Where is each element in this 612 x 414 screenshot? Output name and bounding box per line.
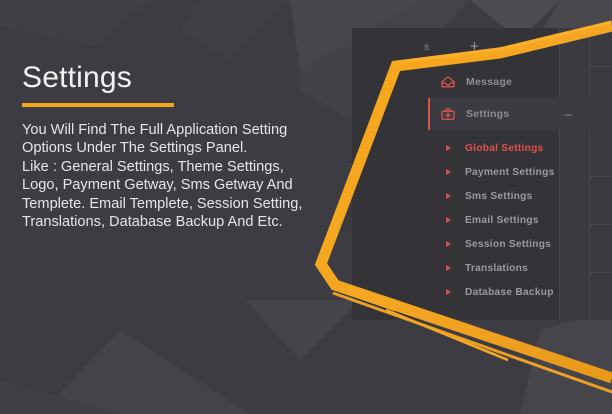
promo-line: Like : General Settings, Theme Settings,	[22, 158, 342, 177]
title-underline	[22, 103, 174, 107]
sidebar-item-label: Message	[466, 76, 512, 88]
collapse-toggle-icon[interactable]: –	[565, 108, 572, 121]
caret-right-icon	[446, 265, 456, 271]
submenu-item-label: Database Backup	[465, 287, 554, 298]
promo-line: Logo, Payment Getway, Sms Getway And	[22, 176, 342, 195]
sidebar-item-message[interactable]: Message	[428, 66, 612, 98]
briefcase-icon	[440, 106, 456, 122]
page-title: Settings	[22, 62, 342, 94]
submenu-item-label: Global Settings	[465, 143, 543, 154]
submenu-item-email-settings[interactable]: Email Settings	[428, 208, 612, 232]
submenu-item-database-backup[interactable]: Database Backup	[428, 280, 612, 304]
promo-line: Options Under The Settings Panel.	[22, 139, 342, 158]
caret-right-icon	[446, 289, 456, 295]
promo-description: You Will Find The Full Application Setti…	[22, 121, 342, 233]
submenu-item-session-settings[interactable]: Session Settings	[428, 232, 612, 256]
caret-right-icon	[446, 217, 456, 223]
promo-line: Translations, Database Backup And Etc.	[22, 213, 342, 232]
app-screenshot: s + Message Settings –	[352, 0, 612, 414]
promo-line: Templete. Email Templete, Session Settin…	[22, 195, 342, 214]
submenu-item-sms-settings[interactable]: Sms Settings	[428, 184, 612, 208]
submenu-item-label: Email Settings	[465, 215, 539, 226]
app-topbar: s +	[424, 36, 612, 62]
settings-submenu: Global Settings Payment Settings Sms Set…	[428, 136, 612, 304]
submenu-item-translations[interactable]: Translations	[428, 256, 612, 280]
submenu-item-label: Sms Settings	[465, 191, 533, 202]
submenu-item-global-settings[interactable]: Global Settings	[428, 136, 612, 160]
submenu-item-label: Session Settings	[465, 239, 551, 250]
caret-right-icon	[446, 241, 456, 247]
submenu-item-payment-settings[interactable]: Payment Settings	[428, 160, 612, 184]
caret-right-icon	[446, 193, 456, 199]
promo-block: Settings You Will Find The Full Applicat…	[22, 62, 342, 232]
plus-icon[interactable]: +	[470, 36, 479, 58]
topbar-truncated-label: s	[424, 42, 429, 53]
sidebar-menu: Message Settings – Global Settings	[428, 66, 612, 304]
caret-right-icon	[446, 145, 456, 151]
slide-canvas: Settings You Will Find The Full Applicat…	[0, 0, 612, 414]
sidebar-item-settings[interactable]: Settings –	[428, 98, 612, 130]
caret-right-icon	[446, 169, 456, 175]
envelope-icon	[440, 74, 456, 90]
promo-line: You Will Find The Full Application Setti…	[22, 121, 342, 140]
sidebar-item-label: Settings	[466, 108, 509, 120]
submenu-item-label: Payment Settings	[465, 167, 555, 178]
submenu-item-label: Translations	[465, 263, 528, 274]
